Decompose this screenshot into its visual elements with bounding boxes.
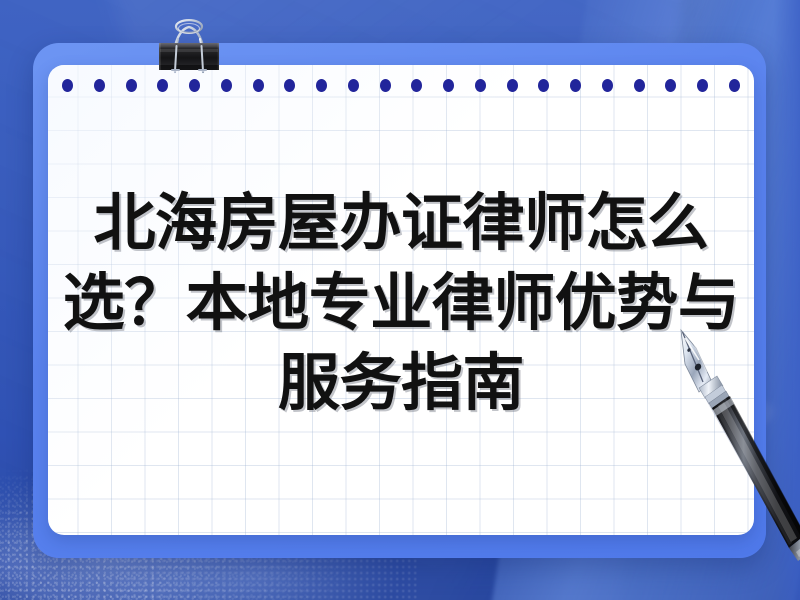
binder-clip-icon	[151, 12, 227, 84]
punch-dot	[94, 79, 105, 92]
punch-dot	[316, 79, 327, 92]
headline-block: 北海房屋办证律师怎么选？本地专业律师优势与服务指南	[48, 183, 754, 423]
punch-dot	[602, 79, 613, 92]
poster-canvas: 北海房屋办证律师怎么选？本地专业律师优势与服务指南	[0, 0, 800, 600]
punch-dot	[443, 79, 454, 92]
page-title: 北海房屋办证律师怎么选？本地专业律师优势与服务指南	[52, 183, 750, 423]
punch-dot	[729, 79, 740, 92]
punch-dot	[697, 79, 708, 92]
punch-dot	[665, 79, 676, 92]
punch-dot	[411, 79, 422, 92]
punch-dot	[507, 79, 518, 92]
punch-dot	[284, 79, 295, 92]
punch-dot	[570, 79, 581, 92]
punch-dot	[348, 79, 359, 92]
punch-dot	[538, 79, 549, 92]
punch-dot	[475, 79, 486, 92]
punch-dot	[253, 79, 264, 92]
punch-dot	[126, 79, 137, 92]
punch-dot	[380, 79, 391, 92]
grid-paper: 北海房屋办证律师怎么选？本地专业律师优势与服务指南	[48, 65, 754, 535]
punch-dot	[62, 79, 73, 92]
punch-dot	[634, 79, 645, 92]
background-right-strip	[774, 0, 800, 600]
